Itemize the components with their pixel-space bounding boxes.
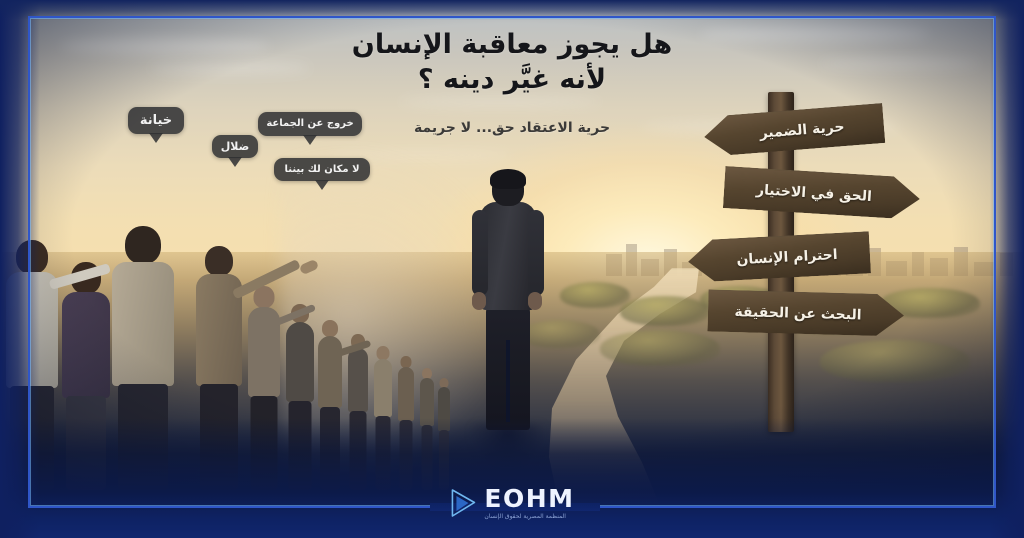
sign-label: الحق في الاختيار [756,181,873,204]
sign-label: احترام الإنسان [736,246,838,267]
sign-search-for-truth: البحث عن الحقيقة [707,289,904,336]
speech-bubble-no-place-for-you: لا مكان لك بيننا [274,158,370,181]
triangle-play-icon [449,488,477,518]
bottom-navy-band [0,418,1024,538]
top-navy-edge [0,0,1024,20]
speech-bubble-text: ضلال [221,141,250,152]
page-title: هل يجوز معاقبة الإنسان لأنه غيَّر دينه ؟ [192,27,832,97]
sign-respect-for-the-human: احترام الإنسان [687,231,871,282]
sign-right-to-choose: الحق في الاختيار [723,166,921,220]
logo-wordmark: EOHM [484,486,574,511]
brand-logo[interactable]: EOHM المنظمة المصرية لحقوق الإنسان [449,486,574,520]
right-navy-edge [990,0,1024,538]
speech-bubble-text: خيانة [140,114,172,127]
subtitle: حرية الاعتقاد حق... لا جريمة [192,120,832,136]
speech-bubble-text: لا مكان لك بيننا [285,165,360,175]
sign-label: البحث عن الحقيقة [734,304,861,323]
logo-subtitle: المنظمة المصرية لحقوق الإنسان [484,514,566,520]
left-navy-edge [0,0,40,538]
speech-bubble-betrayal: خيانة [128,107,184,134]
headline-line-1: هل يجوز معاقبة الإنسان [192,27,832,62]
headline-line-2: لأنه غيَّر دينه ؟ [192,62,832,97]
poster-canvas: خيانة ضلال خروج عن الجماعة لا مكان لك بي… [0,0,1024,538]
logo-text-block: EOHM المنظمة المصرية لحقوق الإنسان [484,486,574,520]
speech-bubble-misguidance: ضلال [212,135,258,158]
signpost-group: حرية الضمير الحق في الاختيار احترام الإن… [690,92,920,432]
